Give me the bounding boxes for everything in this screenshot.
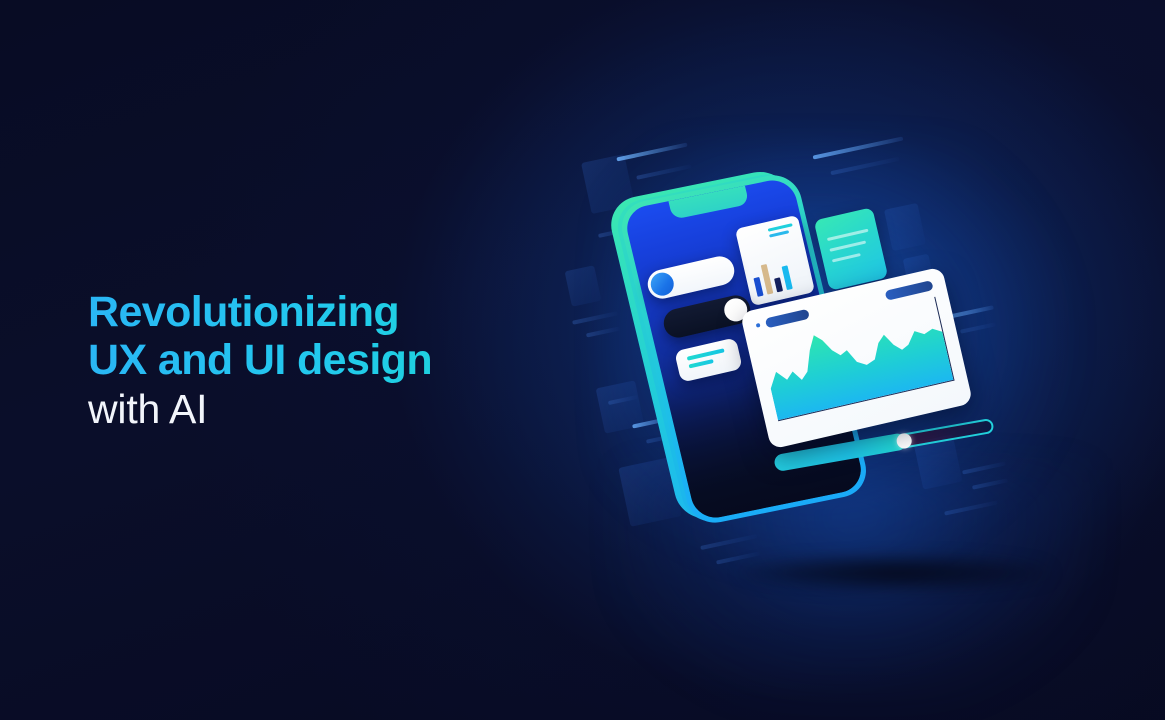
bar-chart-bar bbox=[761, 264, 774, 295]
bar-chart-label-line-2 bbox=[769, 230, 789, 237]
phone-drop-shadow bbox=[740, 555, 1050, 591]
teal-card-line-2 bbox=[829, 241, 866, 252]
headline-line-1: Revolutionizing bbox=[88, 288, 608, 336]
mini-card-bar-2 bbox=[689, 359, 714, 368]
teal-card-line-3 bbox=[832, 253, 861, 263]
area-chart-dot-icon bbox=[756, 323, 761, 328]
bar-chart-bars bbox=[750, 252, 806, 296]
area-chart-pill-left bbox=[765, 309, 810, 329]
mini-card-bar-1 bbox=[687, 348, 725, 360]
toggle-on-knob bbox=[648, 270, 676, 298]
headline-line-3: with AI bbox=[88, 384, 608, 434]
teal-card-line-1 bbox=[827, 229, 869, 241]
bar-chart-card-labels bbox=[768, 223, 795, 240]
bar-chart-bar bbox=[774, 277, 783, 292]
bar-chart-bar bbox=[782, 265, 793, 290]
bar-chart-label-line-1 bbox=[768, 223, 793, 232]
phone-illustration-group bbox=[625, 178, 965, 538]
headline-block: Revolutionizing UX and UI design with AI bbox=[88, 288, 608, 434]
teal-content-card[interactable] bbox=[814, 207, 889, 291]
bar-chart-bar bbox=[753, 277, 763, 297]
illustration-stage: Revolutionizing UX and UI design with AI bbox=[0, 0, 1165, 720]
headline-line-2: UX and UI design bbox=[88, 336, 608, 384]
